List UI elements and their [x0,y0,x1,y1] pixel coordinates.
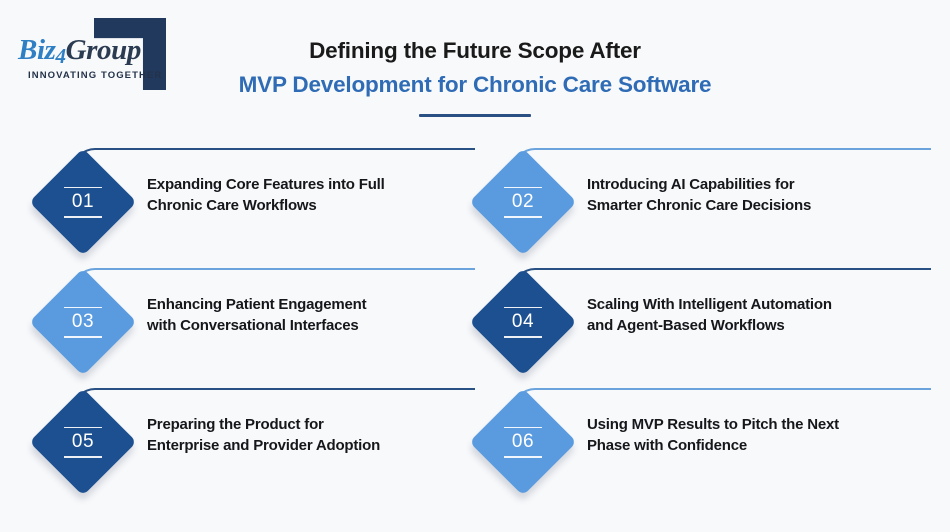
page-title-line-2: MVP Development for Chronic Care Softwar… [190,70,760,100]
logo-word-group: Group [66,34,141,66]
logo-word-biz: Biz [18,34,56,66]
step-badge: 01 [45,164,121,240]
logo-tagline: INNOVATING TOGETHER [28,70,162,81]
step-text: Scaling With Intelligent Automation and … [587,294,917,336]
step-badge: 03 [45,284,121,360]
step-number: 01 [72,188,94,216]
list-item: 01 Expanding Core Features into Full Chr… [45,146,480,264]
list-item: 05 Preparing the Product for Enterprise … [45,386,480,504]
step-badge: 05 [45,404,121,480]
step-badge: 02 [485,164,561,240]
number-rule-bottom [64,456,102,458]
step-text-line-1: Scaling With Intelligent Automation [587,296,832,313]
page-header: Biz4Group INNOVATING TOGETHER Defining t… [0,0,950,132]
step-number-group: 03 [45,284,121,360]
step-number: 03 [72,308,94,336]
step-text: Preparing the Product for Enterprise and… [147,414,477,456]
number-rule-bottom [64,336,102,338]
step-number-group: 06 [485,404,561,480]
step-text: Enhancing Patient Engagement with Conver… [147,294,477,336]
step-text-line-2: Phase with Confidence [587,435,917,456]
logo-word-four: 4 [56,44,66,68]
step-text-line-2: Smarter Chronic Care Decisions [587,195,917,216]
step-badge: 06 [485,404,561,480]
list-item: 02 Introducing AI Capabilities for Smart… [485,146,920,264]
step-text-line-1: Using MVP Results to Pitch the Next [587,416,839,433]
step-number-group: 05 [45,404,121,480]
title-underline-divider [419,114,531,117]
step-text: Using MVP Results to Pitch the Next Phas… [587,414,917,456]
list-item: 03 Enhancing Patient Engagement with Con… [45,266,480,384]
number-rule-bottom [64,216,102,218]
page-title-line-1: Defining the Future Scope After [190,36,760,66]
step-number: 05 [72,428,94,456]
step-text-line-2: Enterprise and Provider Adoption [147,435,477,456]
step-text-line-2: and Agent-Based Workflows [587,315,917,336]
title-block: Defining the Future Scope After MVP Deve… [190,36,760,117]
step-text-line-1: Enhancing Patient Engagement [147,296,366,313]
step-number: 04 [512,308,534,336]
step-number-group: 01 [45,164,121,240]
step-text-line-2: Chronic Care Workflows [147,195,477,216]
number-rule-bottom [504,336,542,338]
step-badge: 04 [485,284,561,360]
step-number: 06 [512,428,534,456]
step-text-line-2: with Conversational Interfaces [147,315,477,336]
step-text-line-1: Preparing the Product for [147,416,324,433]
step-text-line-1: Introducing AI Capabilities for [587,176,794,193]
step-text: Introducing AI Capabilities for Smarter … [587,174,917,216]
list-item: 04 Scaling With Intelligent Automation a… [485,266,920,384]
step-text-line-1: Expanding Core Features into Full [147,176,385,193]
brand-logo: Biz4Group INNOVATING TOGETHER [18,16,178,94]
logo-wordmark: Biz4Group [18,34,148,67]
step-number-group: 04 [485,284,561,360]
number-rule-bottom [504,216,542,218]
step-text: Expanding Core Features into Full Chroni… [147,174,477,216]
list-item: 06 Using MVP Results to Pitch the Next P… [485,386,920,504]
steps-list: 01 Expanding Core Features into Full Chr… [0,132,950,532]
step-number-group: 02 [485,164,561,240]
number-rule-bottom [504,456,542,458]
step-number: 02 [512,188,534,216]
